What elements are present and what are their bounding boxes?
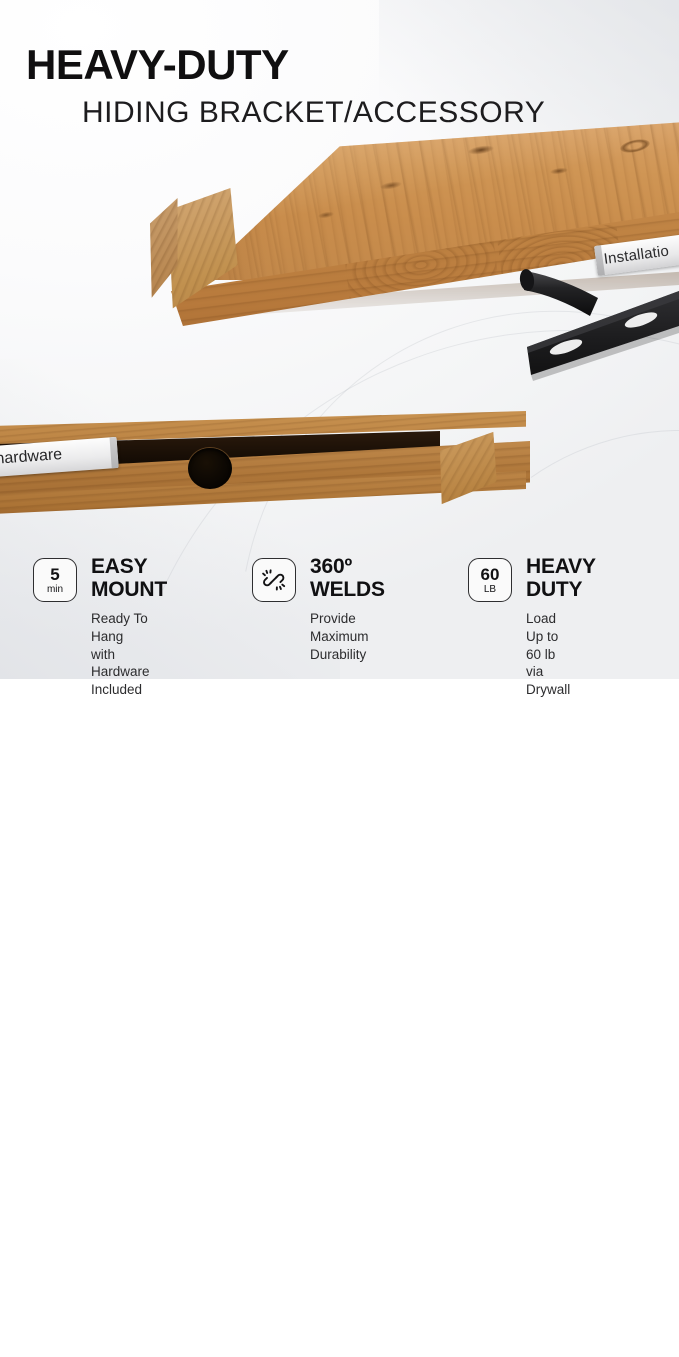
upper-shelf-label-text: Installatio (603, 242, 670, 267)
feature-title: EASY MOUNT (91, 556, 167, 601)
feature-list: 5 min EASY MOUNT Ready To Hang with Hard… (0, 548, 679, 668)
badge-unit: min (47, 585, 63, 595)
page-title: HEAVY-DUTY (26, 44, 289, 86)
lower-shelf-bracket-hole (188, 448, 232, 489)
badge-value: 5 (50, 566, 59, 583)
timer-badge-icon: 5 min (33, 558, 77, 602)
lower-shelf-label-text: ion hardware (0, 446, 63, 471)
chain-link-weld-icon (252, 558, 296, 602)
feature-title: HEAVY DUTY (526, 556, 596, 601)
chain-link-icon-glyph (261, 567, 287, 593)
feature-description: Load Up to 60 lb via Drywall (526, 610, 570, 699)
feature-description: Provide Maximum Durability (310, 610, 369, 663)
badge-unit: LB (484, 585, 496, 595)
feature-description: Ready To Hang with Hardware Included (91, 610, 150, 699)
feature-title: 360º WELDS (310, 556, 385, 601)
badge-value: 60 (481, 566, 500, 583)
weight-badge-icon: 60 LB (468, 558, 512, 602)
